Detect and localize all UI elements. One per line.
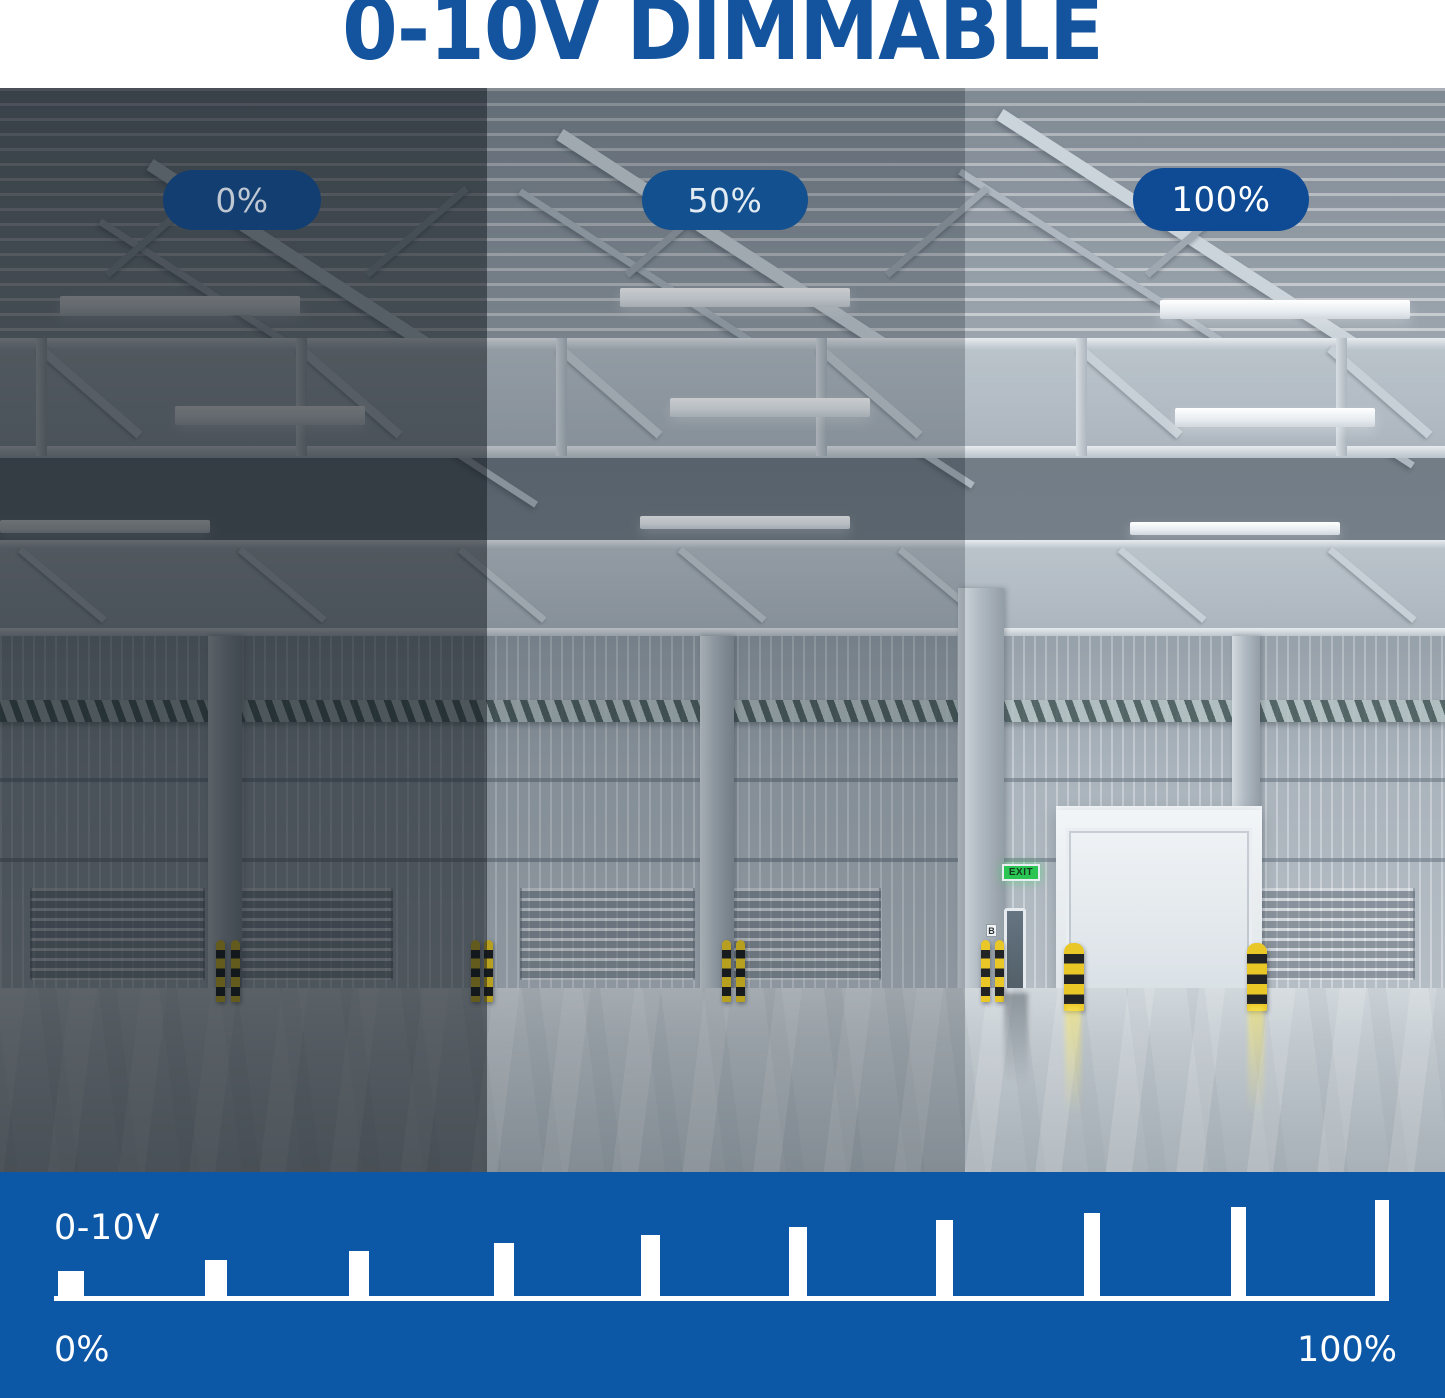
floor-sheen [0, 988, 1445, 1172]
scale-tick [641, 1235, 660, 1301]
exit-sign-label: EXIT [1009, 867, 1033, 878]
scale-tick [1231, 1207, 1246, 1301]
scale-tick [349, 1251, 369, 1301]
truss-top-chord [0, 338, 1445, 350]
led-fixture [620, 288, 850, 307]
wall-louver [520, 888, 695, 980]
safety-bollard [981, 940, 990, 1002]
header-banner: 0-10V DIMMABLE [0, 0, 1445, 88]
scale-axis-line [54, 1296, 1389, 1301]
truss-post [1336, 338, 1347, 456]
structural-column [208, 636, 242, 988]
floor-reflection [1004, 993, 1028, 1083]
percent-badge-0: 0% [163, 170, 321, 230]
door-sign-b: B [986, 924, 997, 937]
truss-post [556, 338, 567, 456]
scale-min-label: 0% [54, 1330, 110, 1370]
floor-reflection [1065, 1006, 1081, 1116]
safety-bollard [995, 940, 1004, 1002]
scale-tick [205, 1260, 227, 1301]
truss-post [296, 338, 307, 456]
truss-post [1076, 338, 1087, 456]
safety-bollard [231, 940, 240, 1002]
scale-tick [1084, 1213, 1100, 1301]
personnel-door [1004, 908, 1026, 998]
wall-louver [218, 888, 393, 980]
safety-bollard [1247, 943, 1267, 1011]
truss-post [36, 338, 47, 456]
safety-bollard [216, 940, 225, 1002]
truss-post [816, 338, 827, 456]
truss-bottom-chord [0, 446, 1445, 458]
exit-sign-icon: EXIT [1002, 864, 1040, 881]
led-fixture [1175, 408, 1375, 427]
percent-badge-50: 50% [642, 170, 808, 230]
safety-bollard [1064, 943, 1084, 1011]
scale-tick [494, 1243, 514, 1301]
truss-top-chord [0, 540, 1445, 549]
scale-tick [789, 1227, 807, 1301]
floor-reflection [1248, 1006, 1264, 1116]
led-fixture [175, 406, 365, 425]
scale-max-label: 100% [1297, 1330, 1397, 1370]
led-fixture [60, 296, 300, 315]
led-fixture [1130, 522, 1340, 535]
led-fixture [0, 520, 210, 533]
page-title: 0-10V DIMMABLE [51, 0, 1395, 74]
led-fixture [1160, 300, 1410, 319]
dock-door-panel [1066, 828, 1252, 994]
safety-bollard [471, 940, 480, 1002]
led-fixture [640, 516, 850, 529]
led-fixture [670, 398, 870, 417]
safety-bollard [484, 940, 493, 1002]
safety-bollard [736, 940, 745, 1002]
safety-bollard [722, 940, 731, 1002]
wall-louver [30, 888, 205, 980]
scale-tick-layer [0, 1200, 1445, 1301]
warehouse-scene: EXIT B [0, 88, 1445, 1172]
structural-column [958, 588, 1004, 988]
percent-badge-100: 100% [1133, 168, 1309, 231]
warehouse-photo: EXIT B [0, 88, 1445, 1172]
scale-tick [1375, 1200, 1389, 1301]
scale-tick [936, 1220, 953, 1301]
wall-louver [1250, 888, 1415, 980]
structural-column [700, 636, 734, 988]
